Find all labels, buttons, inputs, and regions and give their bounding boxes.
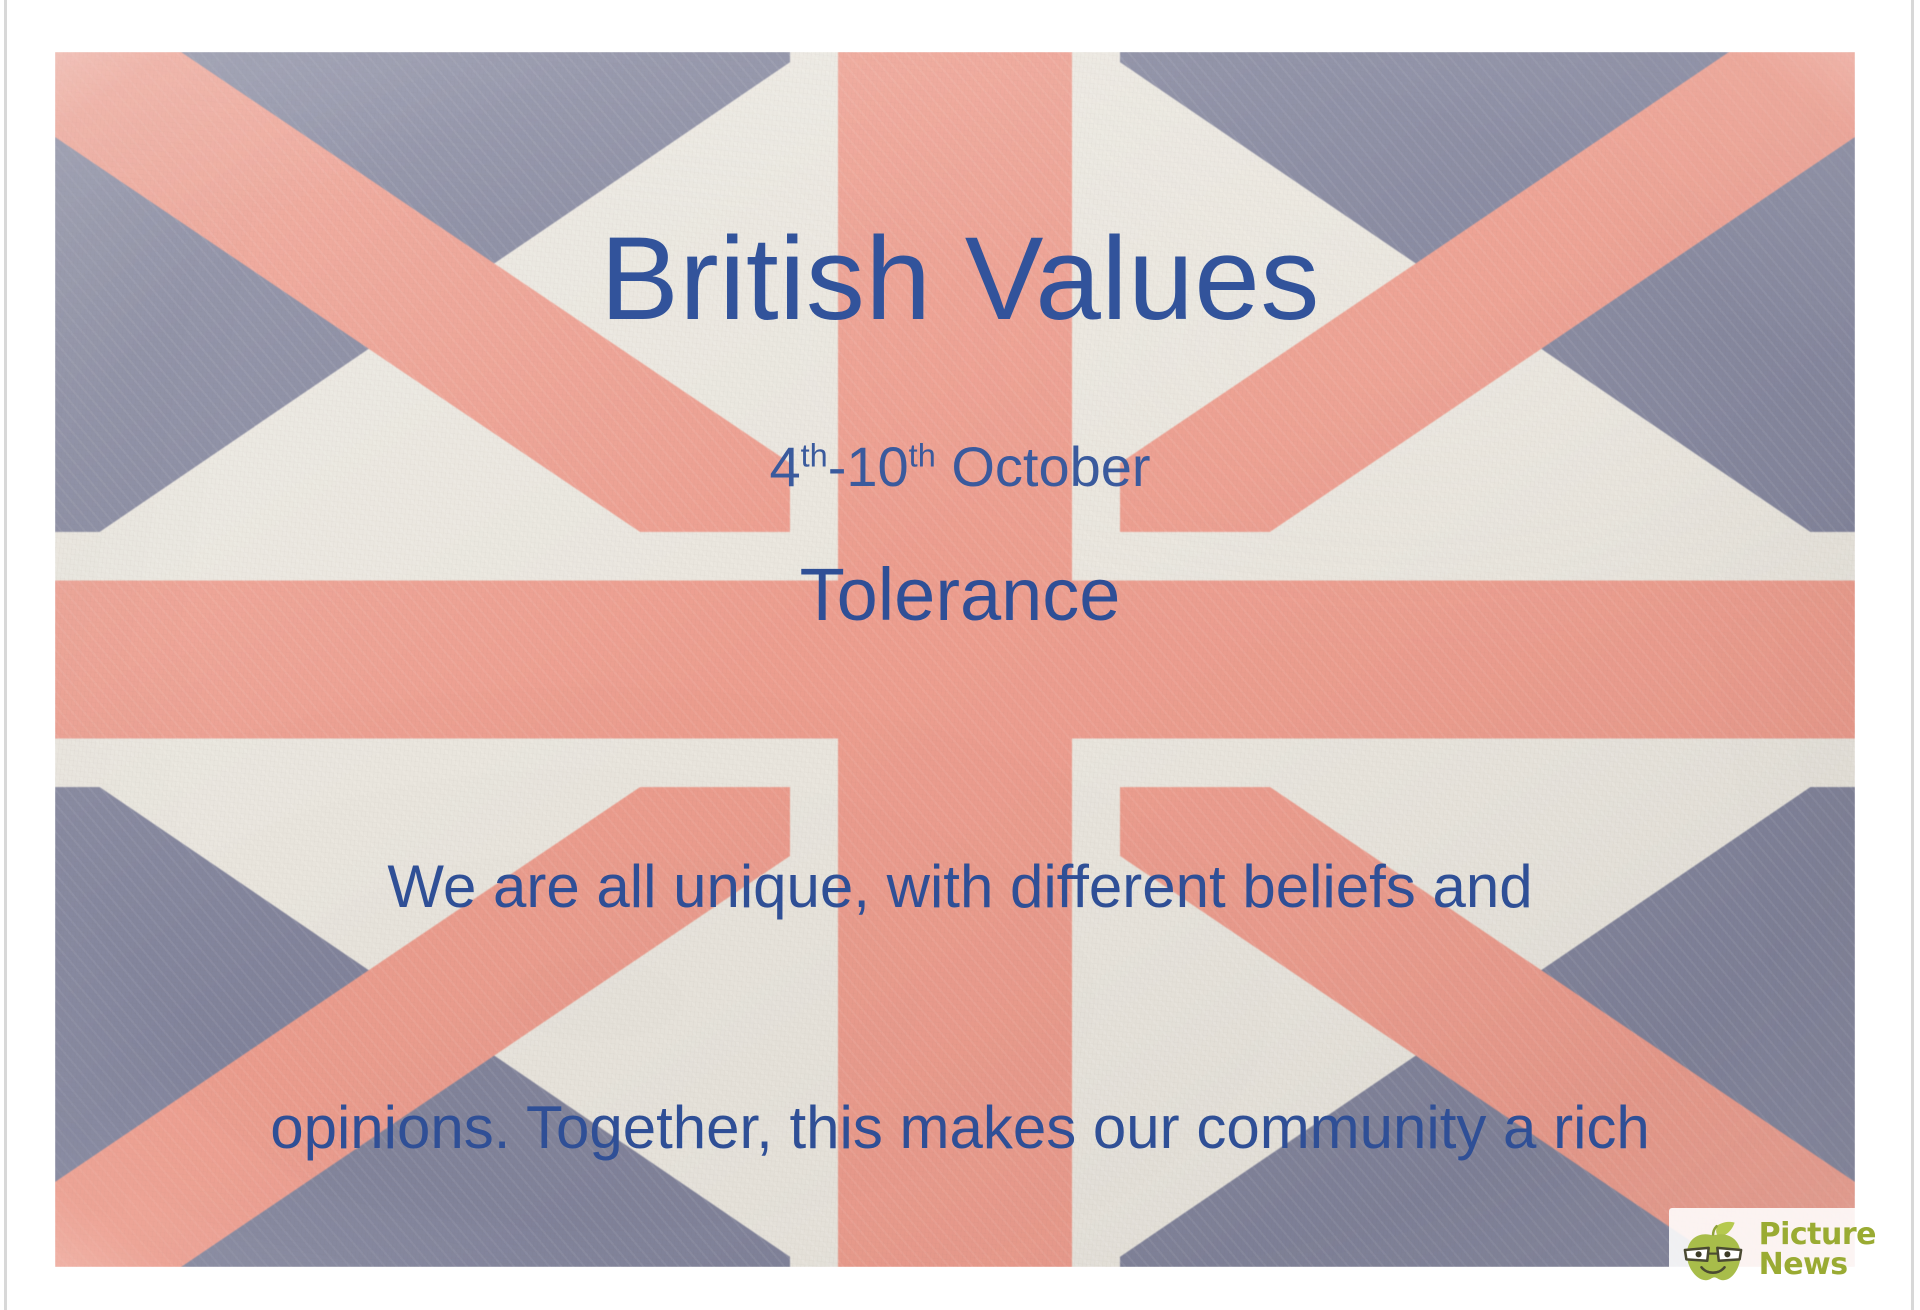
logo-wordmark: Picture News xyxy=(1759,1220,1876,1280)
date-month: October xyxy=(936,435,1151,498)
body-line: We are all unique, with different belief… xyxy=(70,847,1850,927)
left-border-line xyxy=(4,0,7,1310)
date-separator: - xyxy=(828,435,847,498)
apple-with-glasses-icon xyxy=(1677,1214,1749,1286)
slide-content: British Values 4th-10th October Toleranc… xyxy=(0,0,1920,1310)
date-range: 4th-10th October xyxy=(0,436,1920,498)
date-start-ordinal: th xyxy=(801,437,828,473)
picture-news-logo: Picture News xyxy=(1669,1208,1888,1292)
subtitle-tolerance: Tolerance xyxy=(0,555,1920,635)
date-end-number: 10 xyxy=(846,435,908,498)
slide-canvas: British Values 4th-10th October Toleranc… xyxy=(0,0,1920,1310)
page-title: British Values xyxy=(0,218,1920,342)
logo-line-picture: Picture xyxy=(1759,1220,1876,1250)
date-end-ordinal: th xyxy=(909,437,936,473)
logo-line-news: News xyxy=(1759,1250,1876,1280)
body-line: opinions. Together, this makes our commu… xyxy=(70,1088,1850,1168)
date-start-number: 4 xyxy=(769,435,800,498)
body-paragraph: We are all unique, with different belief… xyxy=(70,686,1850,1310)
right-border-line xyxy=(1911,0,1914,1310)
